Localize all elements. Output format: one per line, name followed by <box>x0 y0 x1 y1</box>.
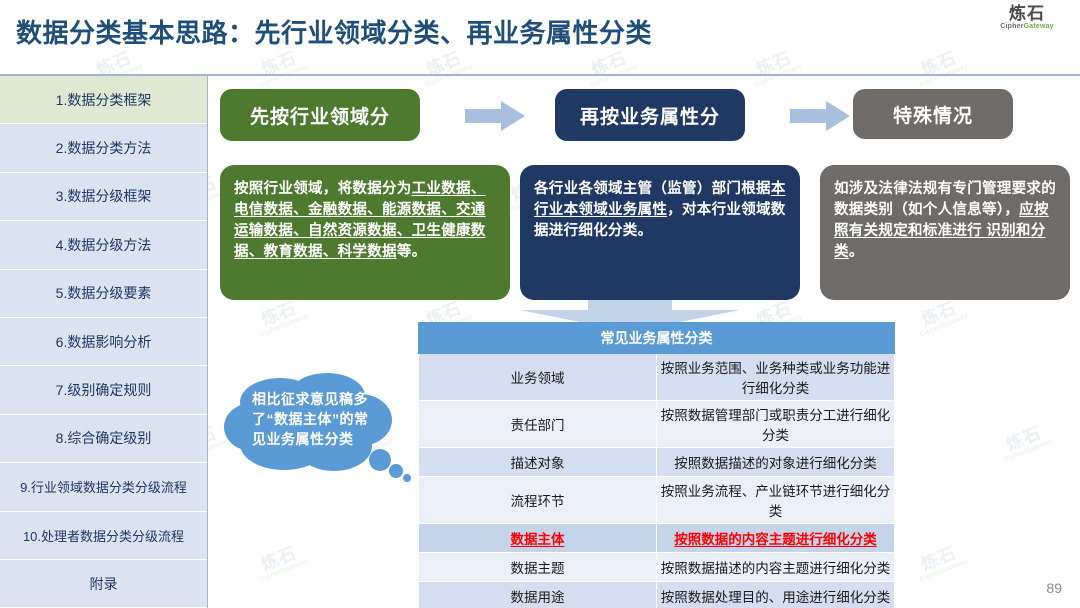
watermark-logo: 炼石CipherGateway <box>912 541 969 583</box>
sidebar-item-2[interactable]: 2.数据分类方法 <box>0 124 207 172</box>
sidebar-item-11[interactable]: 附录 <box>0 560 207 608</box>
table-cell-desc: 按照业务范围、业务种类或业务功能进行细化分类 <box>657 354 895 401</box>
table-cell-desc: 按照业务流程、产业链环节进行细化分类 <box>657 477 895 524</box>
table-row: 数据用途按照数据处理目的、用途进行细化分类 <box>419 582 895 608</box>
sidebar-item-1[interactable]: 1.数据分类框架 <box>0 76 207 124</box>
page-number: 89 <box>1046 580 1062 596</box>
sidebar-item-label: 1.数据分类框架 <box>56 90 152 110</box>
table-cell-name: 数据用途 <box>419 582 657 608</box>
step2-body-pre: 各行业各领域主管（监管）部门根据 <box>534 181 771 197</box>
sidebar-item-5[interactable]: 5.数据分级要素 <box>0 270 207 318</box>
table-cell-name: 业务领域 <box>419 354 657 401</box>
table-row: 描述对象按照数据描述的对象进行细化分类 <box>419 448 895 477</box>
table-header-row: 常见业务属性分类 <box>419 323 895 354</box>
logo-en-cipher: Cipher <box>1000 23 1023 30</box>
table-row: 数据主体按照数据的内容主题进行细化分类 <box>419 524 895 553</box>
arrow-right-icon-1 <box>465 99 527 133</box>
table-cell-desc: 按照数据描述的对象进行细化分类 <box>657 448 895 477</box>
logo-en-gateway: Gateway <box>1024 23 1054 30</box>
slide-root: 炼石CipherGateway炼石CipherGateway炼石CipherGa… <box>0 0 1080 608</box>
brand-logo: 炼石 CipherGateway <box>988 5 1066 31</box>
logo-english-text: CipherGateway <box>988 23 1066 31</box>
table-cell-name: 描述对象 <box>419 448 657 477</box>
table-row: 流程环节按照业务流程、产业链环节进行细化分类 <box>419 477 895 524</box>
cloud-callout: 相比征求意见稿多了“数据主体”的常见业务属性分类 <box>222 372 412 492</box>
sidebar-item-label: 4.数据分级方法 <box>56 235 152 255</box>
table-cell-desc: 按照数据的内容主题进行细化分类 <box>657 524 895 553</box>
watermark-logo: 炼石CipherGateway <box>252 296 309 338</box>
table-cell-name: 责任部门 <box>419 401 657 448</box>
sidebar-item-label: 3.数据分级框架 <box>56 186 152 206</box>
sidebar-item-6[interactable]: 6.数据影响分析 <box>0 318 207 366</box>
watermark-logo: 炼石CipherGateway <box>912 296 969 338</box>
step1-body-pre: 按照行业领域，将数据分为 <box>234 181 412 197</box>
sidebar-item-label: 9.行业领域数据分类分级流程 <box>20 477 187 496</box>
sidebar-item-10[interactable]: 10.处理者数据分类分级流程 <box>0 512 207 560</box>
sidebar-item-label: 6.数据影响分析 <box>56 332 152 352</box>
table-cell-name: 流程环节 <box>419 477 657 524</box>
sidebar-item-4[interactable]: 4.数据分级方法 <box>0 221 207 269</box>
cloud-callout-text: 相比征求意见稿多了“数据主体”的常见业务属性分类 <box>252 390 372 450</box>
flow-step1-pill[interactable]: 先按行业领域分 <box>220 89 420 141</box>
arrow-right-icon-2 <box>790 99 852 133</box>
sidebar-item-7[interactable]: 7.级别确定规则 <box>0 366 207 414</box>
table-row: 业务领域按照业务范围、业务种类或业务功能进行细化分类 <box>419 354 895 401</box>
sidebar-item-label: 8.综合确定级别 <box>56 428 152 448</box>
sidebar-item-8[interactable]: 8.综合确定级别 <box>0 415 207 463</box>
table-cell-desc: 按照数据管理部门或职责分工进行细化分类 <box>657 401 895 448</box>
flow-step2-body: 各行业各领域主管（监管）部门根据本行业本领域业务属性，对本行业领域数据进行细化分… <box>520 165 800 300</box>
sidebar-item-label: 附录 <box>90 574 118 594</box>
page-title: 数据分类基本思路：先行业领域分类、再业务属性分类 <box>16 13 652 50</box>
sidebar-nav[interactable]: 1.数据分类框架2.数据分类方法3.数据分级框架4.数据分级方法5.数据分级要素… <box>0 76 208 608</box>
step1-body-post: 等。 <box>397 244 427 260</box>
sidebar-item-label: 5.数据分级要素 <box>56 283 152 303</box>
watermark-logo: 炼石CipherGateway <box>997 421 1054 463</box>
table-header-cell: 常见业务属性分类 <box>419 323 895 354</box>
table-cell-desc: 按照数据描述的内容主题进行细化分类 <box>657 553 895 582</box>
flow-step3-pill[interactable]: 特殊情况 <box>853 89 1013 139</box>
flow-step3-body: 如涉及法律法规有专门管理要求的数据类别（如个人信息等），应按照有关规定和标准进行… <box>820 165 1070 300</box>
title-bar: 数据分类基本思路：先行业领域分类、再业务属性分类 <box>0 0 1080 75</box>
attribute-table: 常见业务属性分类 业务领域按照业务范围、业务种类或业务功能进行细化分类责任部门按… <box>418 322 895 608</box>
flow-step1-body: 按照行业领域，将数据分为工业数据、电信数据、金融数据、能源数据、交通运输数据、自… <box>220 165 510 300</box>
table-cell-name: 数据主体 <box>419 524 657 553</box>
sidebar-item-label: 10.处理者数据分类分级流程 <box>23 526 184 545</box>
step3-body-post: 。 <box>849 244 864 260</box>
table-row: 责任部门按照数据管理部门或职责分工进行细化分类 <box>419 401 895 448</box>
sidebar-item-3[interactable]: 3.数据分级框架 <box>0 173 207 221</box>
flow-step2-pill[interactable]: 再按业务属性分 <box>555 89 745 141</box>
sidebar-item-label: 2.数据分类方法 <box>56 138 152 158</box>
logo-chinese-text: 炼石 <box>988 5 1066 23</box>
table-cell-desc: 按照数据处理目的、用途进行细化分类 <box>657 582 895 608</box>
table-row: 数据主题按照数据描述的内容主题进行细化分类 <box>419 553 895 582</box>
sidebar-item-9[interactable]: 9.行业领域数据分类分级流程 <box>0 463 207 511</box>
watermark-logo: 炼石CipherGateway <box>252 541 309 583</box>
table-cell-name: 数据主题 <box>419 553 657 582</box>
sidebar-item-label: 7.级别确定规则 <box>56 380 152 400</box>
